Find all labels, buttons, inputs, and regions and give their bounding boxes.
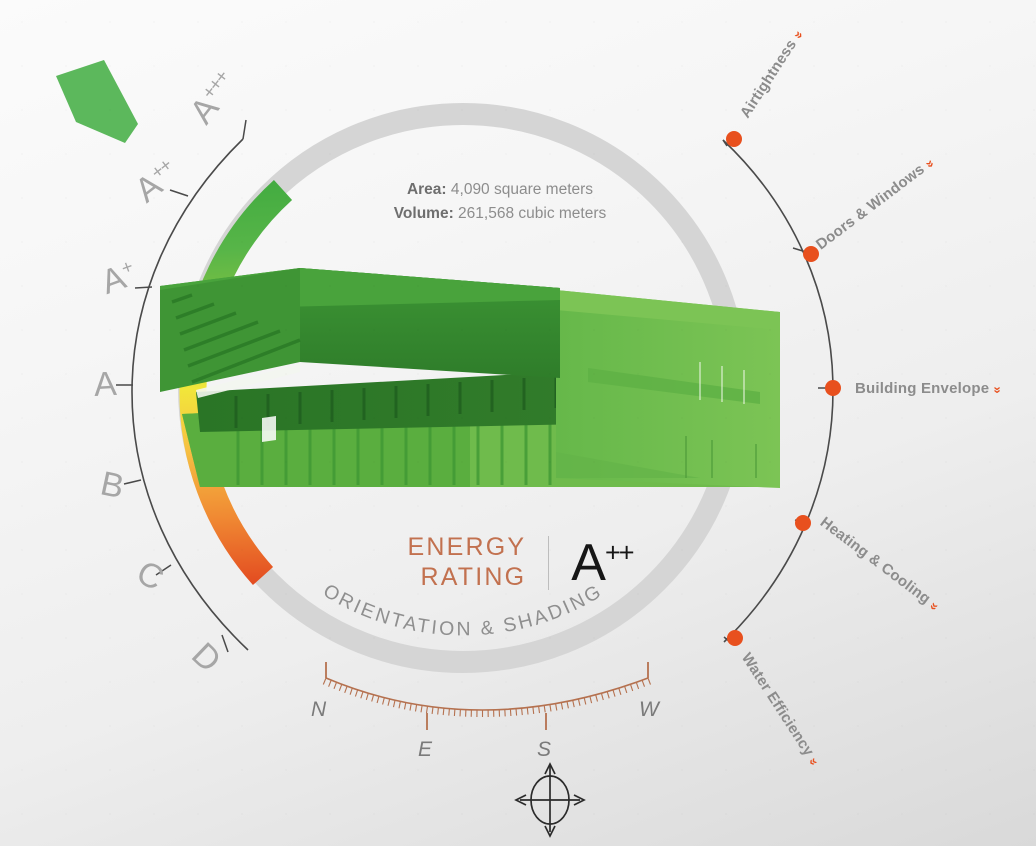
compass-tick — [596, 695, 598, 702]
rating-title-line2: RATING — [407, 563, 526, 593]
compass-tick — [636, 682, 638, 689]
compass-tick — [550, 705, 551, 712]
grade-letter: A — [93, 365, 118, 404]
compass-tick — [399, 701, 400, 708]
compass-tick — [601, 693, 603, 700]
feature-dot-doors-and-windows — [803, 246, 819, 262]
volume-line: Volume: 261,568 cubic meters — [300, 202, 700, 226]
compass-tick — [539, 706, 540, 713]
compass-tick — [416, 705, 417, 712]
feature-label-text: Building Envelope — [855, 380, 989, 397]
compass-tick — [329, 680, 332, 687]
compass-tick — [383, 698, 385, 705]
chevron-down-icon: » — [792, 26, 804, 41]
compass-tick — [522, 708, 523, 715]
compass-tick — [345, 686, 347, 693]
rating-grade-letter: A — [571, 534, 605, 592]
compass-tick — [377, 696, 379, 703]
area-label: Area: — [407, 181, 447, 198]
energy-rating-infographic: ORIENTATION & SHADING — [0, 0, 1036, 846]
compass-tick — [613, 690, 615, 697]
energy-rating-title: ENERGY RATING — [407, 533, 526, 592]
compass-tick — [561, 703, 562, 710]
compass-tick — [443, 708, 444, 715]
compass-tick — [432, 707, 433, 714]
compass-tick — [607, 692, 609, 699]
compass-direction-n: N — [311, 698, 326, 722]
feature-dot-building-envelope — [825, 380, 841, 396]
compass-tick — [648, 678, 651, 685]
compass-tick — [584, 698, 586, 705]
compass-rose-icon — [516, 764, 584, 836]
compass-tick — [405, 703, 406, 710]
compass-tick — [510, 709, 511, 716]
compass-direction-s: S — [537, 738, 551, 762]
compass-tick — [454, 709, 455, 716]
compass-tick — [323, 678, 326, 685]
volume-label: Volume: — [394, 205, 454, 222]
compass-tick — [394, 700, 396, 707]
building-3d-model — [160, 268, 780, 488]
compass-tick — [388, 699, 390, 706]
infographic-canvas: ORIENTATION & SHADING — [0, 0, 1036, 846]
compass-major-ticks — [326, 662, 648, 730]
area-value: 4,090 square meters — [451, 181, 593, 198]
feature-label-building-envelope[interactable]: Building Envelope» — [855, 380, 1000, 397]
compass-scale-ticks — [323, 678, 650, 717]
building-metrics: Area: 4,090 square meters Volume: 261,56… — [300, 178, 700, 226]
compass-tick — [544, 705, 545, 712]
compass-scale-arc — [326, 678, 648, 710]
compass-tick — [350, 688, 352, 695]
compass-tick — [361, 692, 363, 699]
feature-dot-heating-and-cooling — [795, 515, 811, 531]
rating-grade-superscript: ++ — [605, 537, 633, 567]
compass-tick — [355, 690, 357, 697]
compass-tick — [642, 680, 644, 687]
compass-tick — [573, 700, 575, 707]
compass-tick — [449, 709, 450, 716]
chevron-down-icon: » — [991, 386, 1006, 390]
compass-tick — [516, 709, 517, 716]
compass-tick — [556, 704, 557, 711]
decorative-green-shape — [56, 60, 138, 143]
compass-tick — [625, 686, 627, 693]
compass-tick — [527, 708, 528, 715]
compass-tick — [339, 684, 342, 691]
compass-tick — [372, 695, 374, 702]
rating-divider — [548, 536, 549, 590]
compass-tick — [578, 699, 580, 706]
rating-title-line1: ENERGY — [407, 533, 526, 563]
compass-tick — [533, 707, 534, 714]
compass-tick — [427, 706, 428, 713]
compass-direction-e: E — [418, 738, 432, 762]
volume-value: 261,568 cubic meters — [458, 205, 606, 222]
compass-tick — [631, 684, 633, 691]
compass-tick — [567, 701, 568, 708]
compass-tick — [590, 696, 592, 703]
grade-label-a: A — [93, 365, 118, 405]
compass-tick — [366, 693, 368, 700]
compass-direction-w: W — [639, 698, 659, 722]
compass-tick — [421, 705, 422, 712]
feature-dot-airtightness — [726, 131, 742, 147]
energy-rating-grade: A++ — [571, 537, 632, 589]
energy-rating-block: ENERGY RATING A++ — [330, 533, 710, 592]
compass-tick — [619, 688, 621, 695]
feature-dot-water-efficiency — [727, 630, 743, 646]
compass-tick — [438, 708, 439, 715]
compass-tick — [334, 682, 337, 689]
area-line: Area: 4,090 square meters — [300, 178, 700, 202]
compass-tick — [410, 704, 411, 711]
